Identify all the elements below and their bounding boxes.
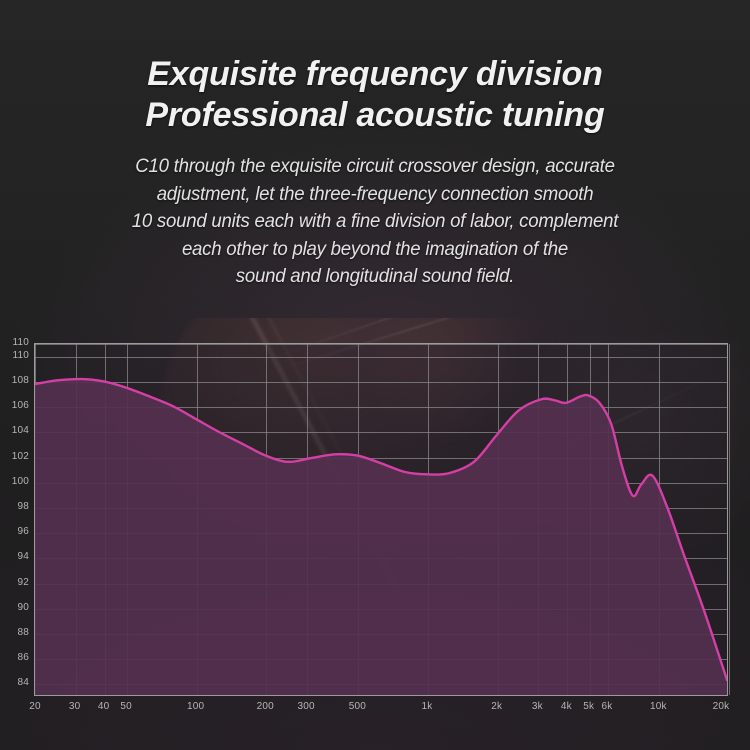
y-axis-tick: 84 [17,678,29,688]
x-axis-tick: 20k [713,702,730,712]
x-axis-tick: 200 [257,702,274,712]
y-axis-tick: 108 [12,376,29,386]
x-axis-tick: 100 [187,702,204,712]
y-axis-tick: 98 [17,502,29,512]
y-axis-tick: 110 [12,338,29,348]
paragraph-line: each other to play beyond the imaginatio… [17,236,733,264]
y-axis-tick: 110 [12,351,29,361]
headline-line-2: Professional acoustic tuning [0,91,750,132]
y-axis-tick: 100 [12,477,29,487]
plot-area [34,343,728,696]
x-axis-tick: 30 [69,702,81,712]
header-block: Exquisite frequency division Professiona… [0,0,750,318]
paragraph-line: C10 through the exquisite circuit crosso… [17,153,733,181]
y-axis-tick: 106 [12,401,29,411]
y-axis-tick: 86 [17,653,29,663]
y-axis-tick: 94 [17,552,29,562]
y-axis-tick: 102 [12,452,29,462]
paragraph-line: 10 sound units each with a fine division… [17,208,733,236]
x-axis-tick: 6k [602,702,613,712]
x-axis-tick: 20 [29,702,41,712]
frequency-response-chart: 1101101081061041021009896949290888684 20… [0,318,750,750]
y-axis-tick: 96 [17,527,29,537]
response-curve [35,344,727,695]
x-axis-tick: 10k [650,702,667,712]
x-axis-labels: 203040501002003005001k2k3k4k5k6k10k20k [0,696,750,720]
y-axis-tick: 92 [17,578,29,588]
paragraph-line: adjustment, let the three-frequency conn… [17,181,733,209]
y-axis-labels: 1101101081061041021009896949290888684 [0,343,34,696]
paragraph-line: sound and longitudinal sound field. [17,263,733,291]
x-axis-tick: 500 [349,702,366,712]
x-axis-tick: 4k [561,702,572,712]
x-axis-tick: 1k [422,702,433,712]
x-axis-tick: 300 [297,702,314,712]
x-axis-tick: 5k [583,702,594,712]
description-paragraph: C10 through the exquisite circuit crosso… [17,153,733,291]
x-axis-tick: 40 [98,702,110,712]
x-axis-tick: 3k [532,702,543,712]
y-axis-tick: 88 [17,628,29,638]
promo-panel: Exquisite frequency division Professiona… [0,0,750,750]
headline-line-1: Exquisite frequency division [0,0,750,91]
page-title: Exquisite frequency division Professiona… [0,0,750,132]
y-axis-tick: 104 [12,426,29,436]
y-axis-tick: 90 [17,603,29,613]
x-axis-tick: 50 [120,702,132,712]
x-axis-tick: 2k [491,702,502,712]
